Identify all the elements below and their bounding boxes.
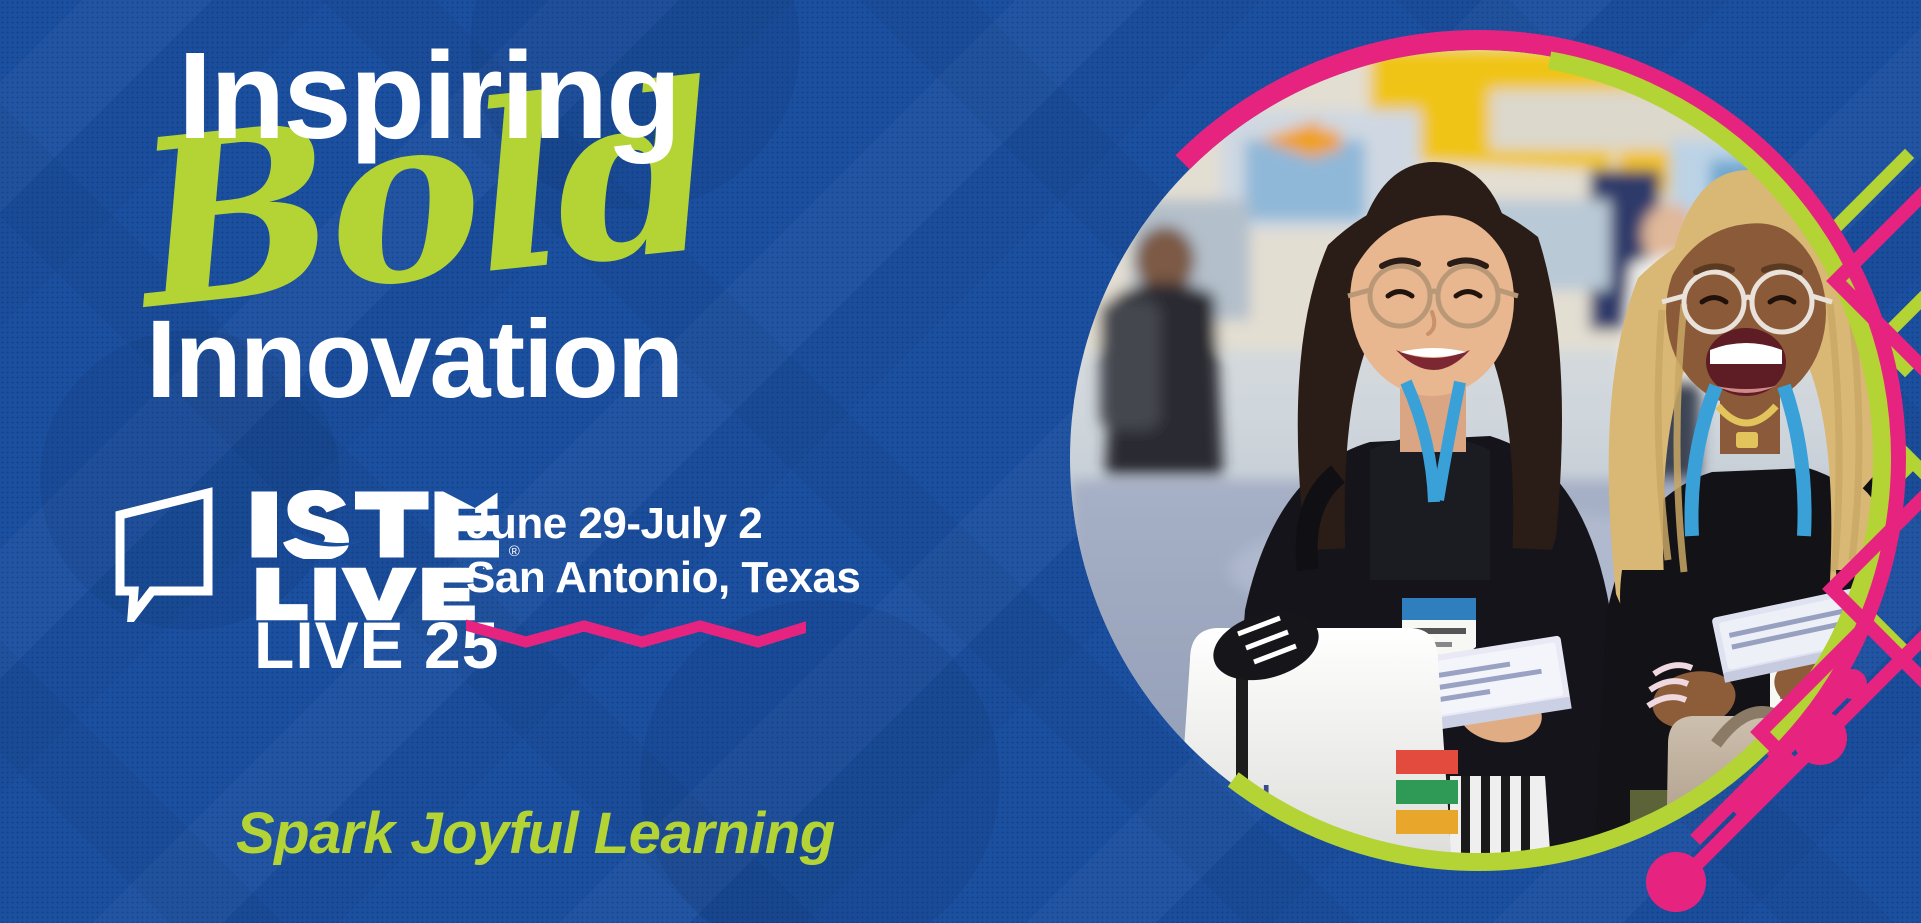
attendee-photo-illustration: ool (1070, 50, 1886, 866)
headline-line-three: Innovation (146, 305, 682, 415)
event-details-block: June 29-July 2 San Antonio, Texas (466, 497, 826, 648)
event-location: San Antonio, Texas (466, 551, 826, 605)
iste-live-25-promo-banner: Inspiring Bold Innovation (0, 0, 1921, 923)
left-content-column: Inspiring Bold Innovation (0, 0, 1000, 923)
iste-live-logo-lockup: ® (112, 487, 520, 623)
event-dates: June 29-July 2 (466, 497, 826, 551)
attendee-photo: ool (1070, 50, 1886, 866)
pink-zigzag-underline-icon (466, 618, 806, 648)
event-tagline: Spark Joyful Learning (236, 800, 835, 867)
iste-speech-bubble-mark-icon (112, 487, 222, 622)
headline-group: Inspiring Bold Innovation (0, 0, 1000, 470)
headline-line-one: Inspiring (178, 35, 679, 158)
photo-medallion: ool (1048, 28, 1908, 888)
svg-text:ool: ool (1220, 780, 1271, 818)
live-25-label: LIVE 25 (254, 612, 499, 678)
